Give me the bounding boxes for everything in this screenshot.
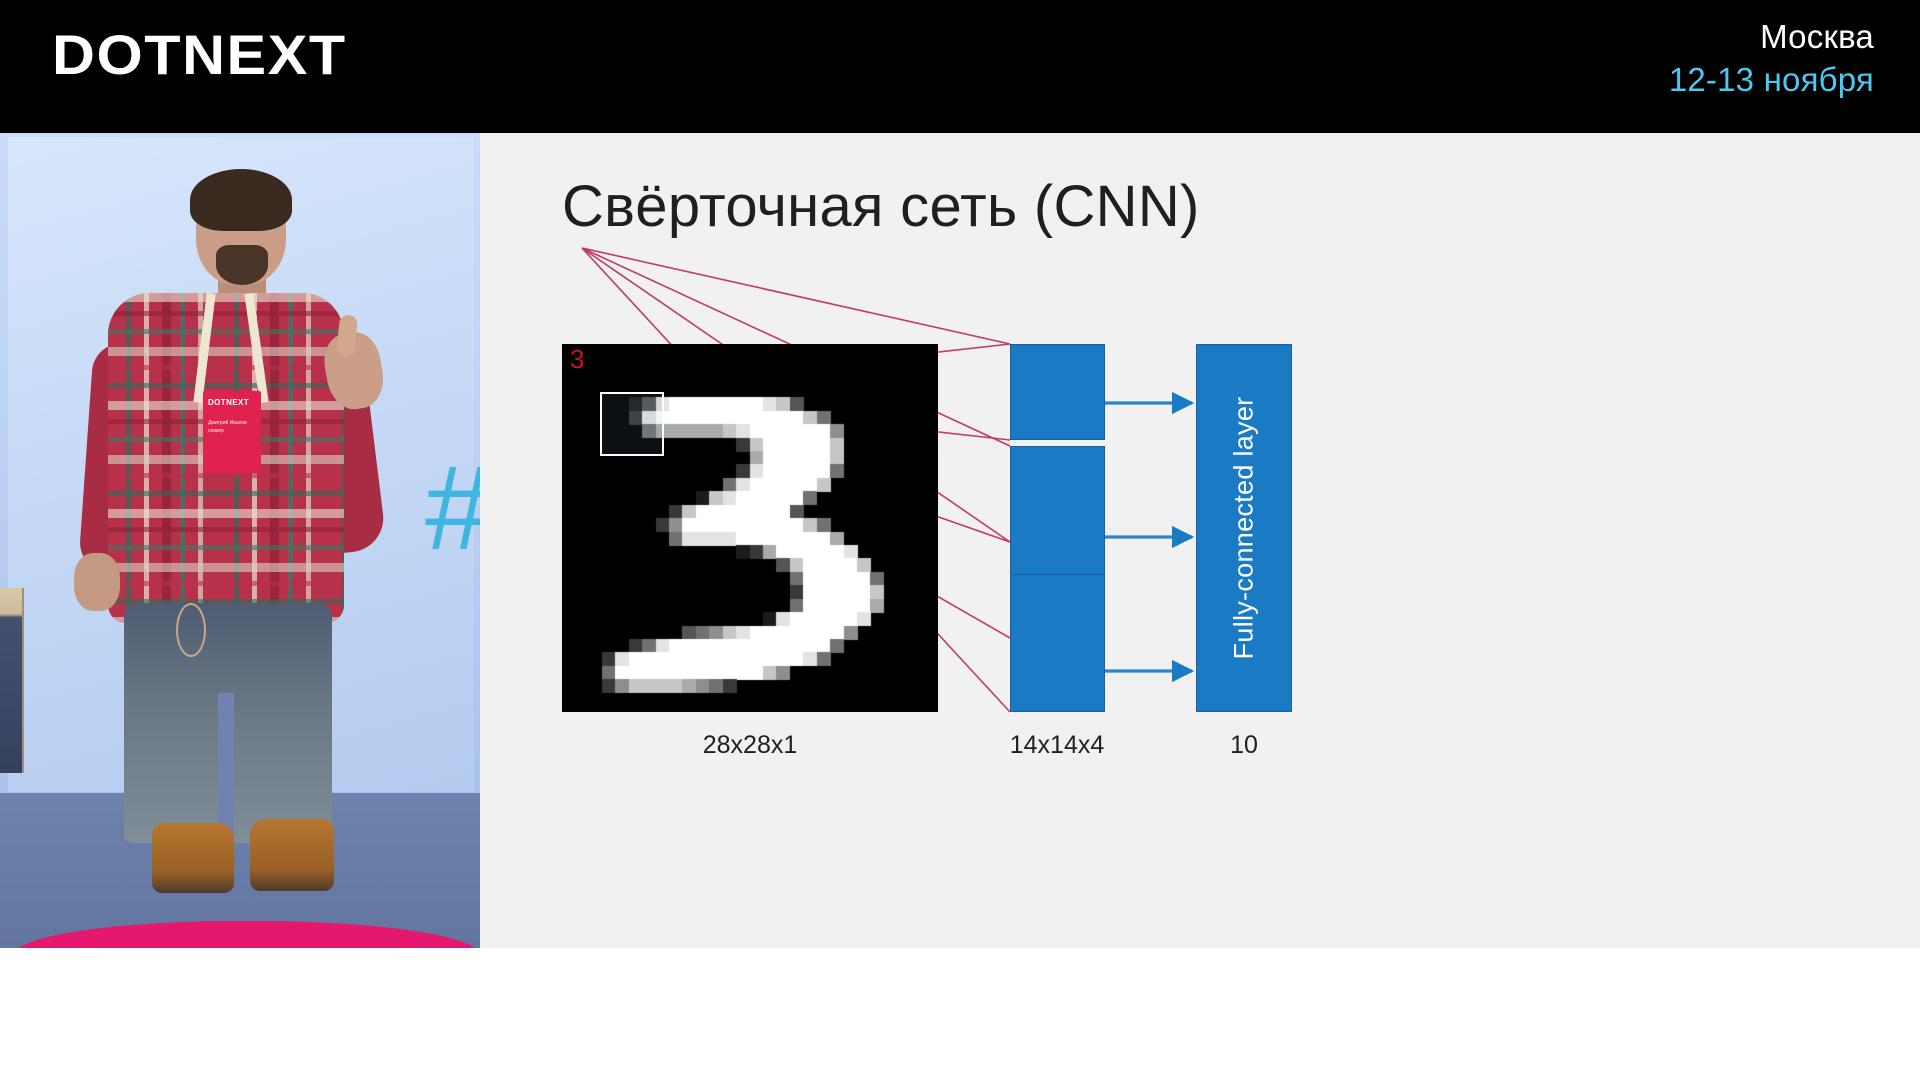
presentation-slide: Свёрточная сеть (CNN) 3 bbox=[480, 133, 1920, 948]
speaker-shirt-cord bbox=[176, 603, 206, 657]
fully-connected-layer-block: Fully-connected layer bbox=[1196, 344, 1292, 712]
fully-connected-layer-label: Fully-connected layer bbox=[1229, 397, 1260, 660]
digit-label: 3 bbox=[570, 344, 584, 375]
header-event-info: Москва 12-13 ноября bbox=[1669, 18, 1874, 100]
speaker-left-boot bbox=[152, 823, 234, 893]
plaid-stripe bbox=[108, 329, 344, 334]
cnn-architecture-diagram: 3 Full bbox=[480, 133, 1920, 948]
speaker-left-hand bbox=[74, 553, 120, 611]
feature-map-block-1 bbox=[1010, 344, 1105, 440]
plaid-stripe bbox=[108, 311, 344, 316]
hashtag-symbol-icon: # bbox=[425, 448, 480, 568]
plaid-stripe bbox=[108, 347, 344, 356]
dotnext-logo: DOTNEXT bbox=[52, 27, 347, 83]
header-dates-label: 12-13 ноября bbox=[1669, 61, 1874, 100]
feature-map-block-3 bbox=[1010, 574, 1105, 712]
output-dimensions-caption: 10 bbox=[1192, 731, 1296, 760]
plaid-stripe bbox=[108, 473, 344, 478]
feature-map-block-2 bbox=[1010, 446, 1105, 576]
speaker-beard bbox=[216, 245, 268, 285]
speaker-right-boot bbox=[250, 819, 334, 891]
plaid-stripe bbox=[108, 293, 344, 302]
header-city-label: Москва bbox=[1669, 18, 1874, 57]
plaid-stripe bbox=[108, 383, 344, 388]
speaker-hair bbox=[190, 169, 292, 231]
plaid-stripe bbox=[108, 509, 344, 518]
plaid-stripe bbox=[108, 545, 344, 550]
plaid-stripe bbox=[108, 527, 344, 532]
badge-logo-text: DOTNEXT bbox=[208, 398, 256, 407]
input-image-mnist: 3 bbox=[562, 344, 938, 712]
plaid-stripe bbox=[108, 491, 344, 496]
speaker-video-panel: # DOTNEXT Дмитрий Иванов спикер bbox=[0, 133, 480, 948]
receptive-field-box bbox=[600, 392, 664, 456]
conference-header-bar: DOTNEXT Москва 12-13 ноября bbox=[0, 0, 1920, 133]
input-dimensions-caption: 28x28x1 bbox=[562, 731, 938, 760]
stage-monitor bbox=[0, 588, 24, 773]
plaid-stripe bbox=[108, 365, 344, 370]
conv-dimensions-caption: 14x14x4 bbox=[1000, 731, 1114, 760]
plaid-stripe bbox=[108, 563, 344, 572]
speaker-conference-badge: DOTNEXT Дмитрий Иванов спикер bbox=[203, 391, 261, 473]
badge-sub-text: Дмитрий Иванов спикер bbox=[208, 420, 256, 435]
plaid-stripe bbox=[108, 581, 344, 586]
slide-capture-frame: DOTNEXT Москва 12-13 ноября # DOTNEXT bbox=[0, 0, 1920, 1080]
